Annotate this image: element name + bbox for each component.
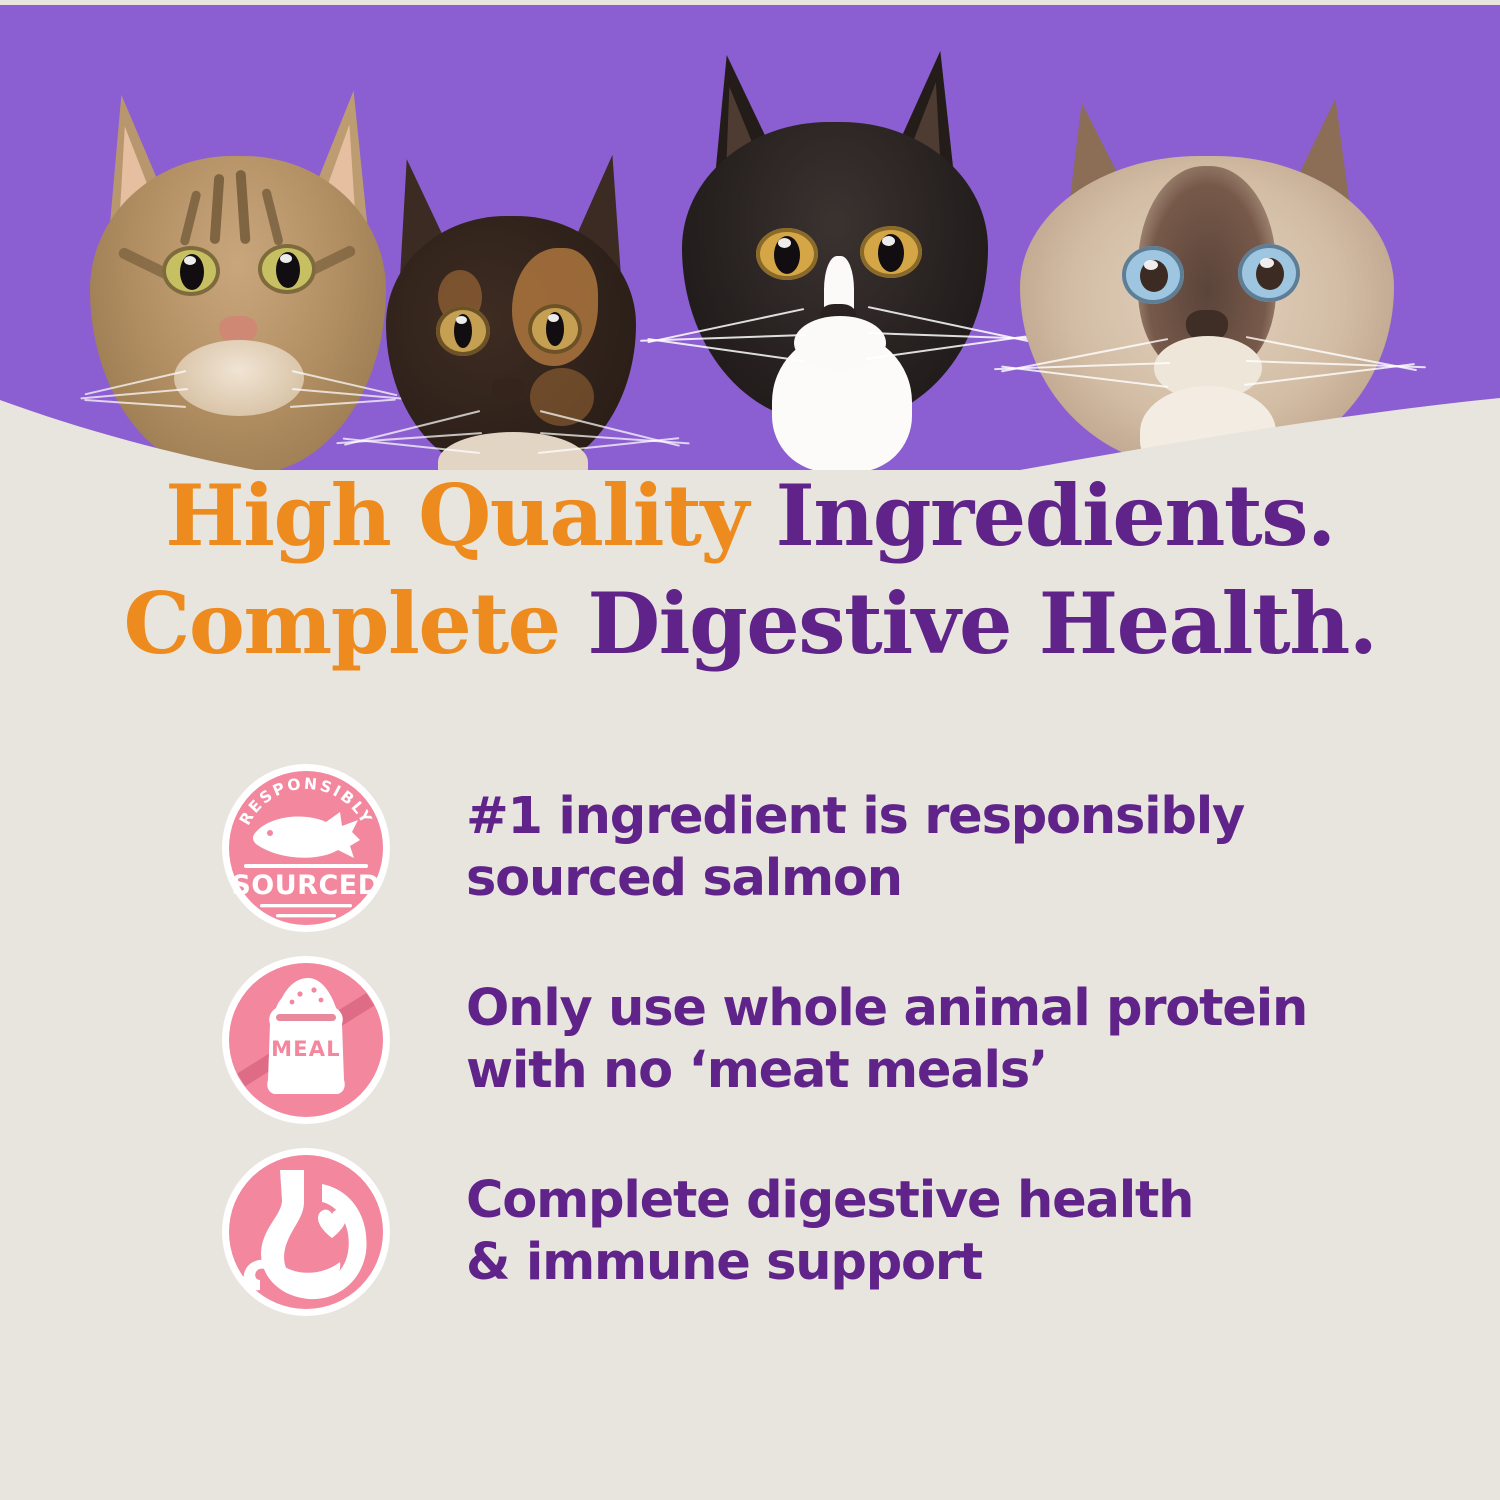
cat-eye-glint-right xyxy=(1260,258,1274,268)
headline-line-1-purple: Ingredients. xyxy=(775,466,1334,565)
benefit-text: Only use whole animal protein with no ‘m… xyxy=(466,978,1307,1102)
badge-bottom-text: SOURCED xyxy=(231,870,380,901)
hero-cat-photo-band xyxy=(0,0,1500,470)
benefit-text: Complete digestive health & immune suppo… xyxy=(466,1170,1193,1294)
list-item: MEAL Only use whole animal protein with … xyxy=(0,944,1500,1136)
headline-line-1-orange: High Quality xyxy=(165,466,775,565)
cat-eye-glint-right xyxy=(882,236,895,246)
list-item: Complete digestive health & immune suppo… xyxy=(0,1136,1500,1328)
headline-line-1: High Quality Ingredients. xyxy=(0,462,1500,570)
page-title: High Quality Ingredients. Complete Diges… xyxy=(0,462,1500,677)
cat-eye-glint-left xyxy=(184,256,196,265)
hero-curve-divider xyxy=(0,270,1500,470)
cat-eye-glint-left xyxy=(1144,260,1158,270)
stomach-heart-digestive-health-icon xyxy=(218,1144,394,1320)
sack-label-text: MEAL xyxy=(271,1037,341,1061)
benefit-text: #1 ingredient is responsibly sourced sal… xyxy=(466,786,1244,910)
list-item: RESPONSIBLY SOURCED #1 ingredien xyxy=(0,752,1500,944)
headline-line-2: Complete Digestive Health. xyxy=(0,570,1500,678)
cat-eye-glint-left xyxy=(778,238,791,248)
cat-eye-glint-right xyxy=(280,254,292,263)
benefit-list: RESPONSIBLY SOURCED #1 ingredien xyxy=(0,752,1500,1328)
headline-line-2-purple: Digestive Health. xyxy=(587,574,1376,673)
product-feature-banner: High Quality Ingredients. Complete Diges… xyxy=(0,0,1500,1500)
top-edge-strip xyxy=(0,0,1500,5)
headline-line-2-orange: Complete xyxy=(123,574,587,673)
no-meat-meal-sack-icon: MEAL xyxy=(218,952,394,1128)
responsibly-sourced-fish-badge-icon: RESPONSIBLY SOURCED xyxy=(218,760,394,936)
